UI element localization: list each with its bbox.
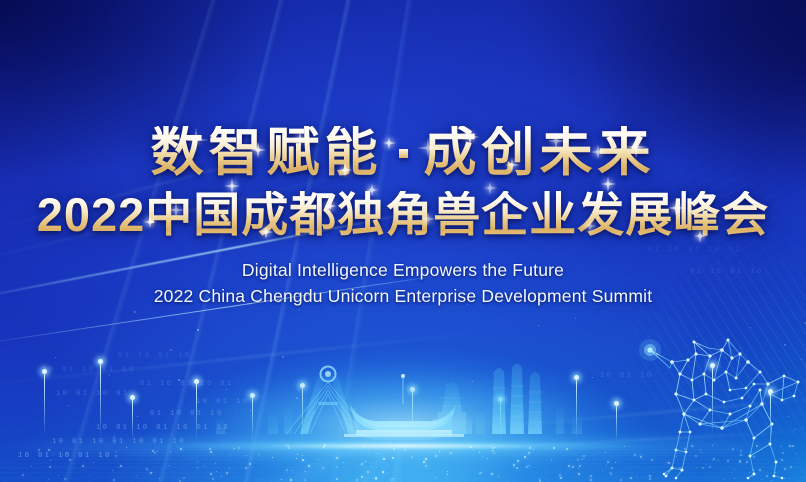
main-title-chinese: 数智赋能成创未来 — [0, 126, 806, 179]
main-title-part2: 成创未来 — [424, 123, 656, 182]
subtitle-english-line2: 2022 China Chengdu Unicorn Enterprise De… — [0, 286, 806, 307]
horizon-glow-line — [0, 441, 806, 451]
sparkle-particle — [439, 311, 440, 312]
title-separator-dot — [399, 149, 408, 158]
subtitle-english-line1: Digital Intelligence Empowers the Future — [0, 260, 806, 281]
main-title-part1: 数智赋能 — [151, 123, 383, 182]
sparkle-particle — [197, 329, 199, 331]
sparkle-particle — [516, 334, 517, 335]
summit-poster: 10 01 10 01 10 10 01 10 01 10 01 10 10 0… — [0, 0, 806, 482]
subtitle-chinese: 2022中国成都独角兽企业发展峰会 — [0, 191, 806, 238]
title-block: 数智赋能成创未来 2022中国成都独角兽企业发展峰会 Digital Intel… — [0, 126, 806, 307]
sparkle-particle — [298, 309, 300, 311]
sparkle-particle — [134, 311, 136, 313]
